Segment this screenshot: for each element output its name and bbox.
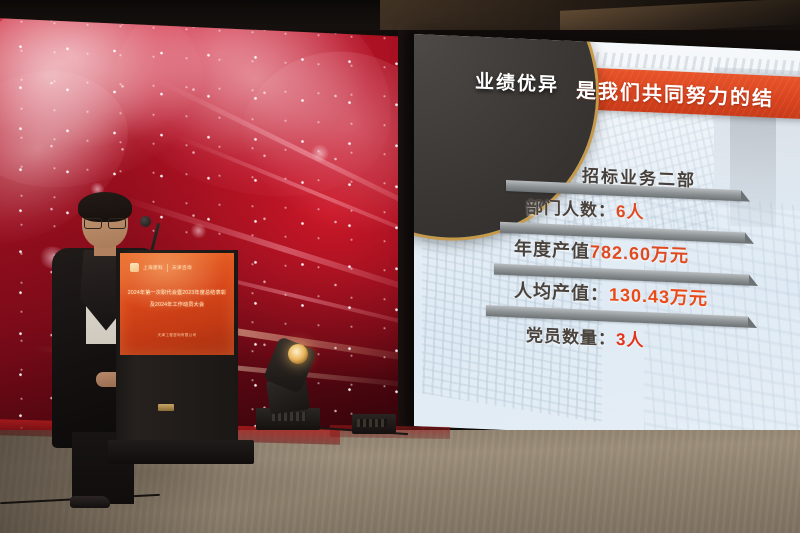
metric-label: 部门人数： bbox=[526, 198, 616, 221]
slide-metric-row: 部门人数：6人 bbox=[526, 193, 644, 223]
logo-divider bbox=[167, 264, 168, 272]
podium-banner-line3: 天津工程咨询有限公司 bbox=[123, 333, 231, 338]
stage-equipment bbox=[352, 414, 396, 434]
podium-nameplate bbox=[158, 404, 174, 411]
podium-front-panel: 上海建科 天津咨询 2024年第一次职代会暨2023年度总结表彰 及2024年工… bbox=[120, 253, 234, 355]
bokeh-dot bbox=[190, 223, 207, 239]
metric-value: 130.43万元 bbox=[609, 285, 708, 309]
presentation-slide: 是我们共同努力的结 业绩优异 招标业务二部 部门人数：6人 年度产值782.60… bbox=[414, 34, 800, 443]
microphone-icon bbox=[140, 216, 151, 227]
building-tower bbox=[730, 106, 776, 228]
metric-label: 年度产值 bbox=[514, 238, 590, 261]
glasses-icon bbox=[84, 218, 126, 227]
metric-value: 3人 bbox=[616, 330, 644, 350]
shoe bbox=[70, 496, 110, 508]
stage-light-lens-icon bbox=[288, 344, 308, 364]
metric-value: 782.60万元 bbox=[590, 242, 689, 266]
podium-logo-text-secondary: 天津咨询 bbox=[172, 265, 192, 271]
podium-banner-line1: 2024年第一次职代会暨2023年度总结表彰 bbox=[123, 289, 231, 296]
conference-photo-scene: 是我们共同努力的结 业绩优异 招标业务二部 部门人数：6人 年度产值782.60… bbox=[0, 0, 800, 533]
podium-logo-text: 上海建科 bbox=[143, 265, 163, 271]
podium-banner-line2: 及2024年工作动员大会 bbox=[123, 301, 231, 308]
metric-value: 6人 bbox=[616, 202, 644, 222]
podium-logo: 上海建科 天津咨询 bbox=[130, 262, 224, 273]
slide-metric-row: 党员数量：3人 bbox=[526, 321, 644, 351]
bokeh-dot bbox=[310, 144, 330, 162]
logo-mark-icon bbox=[130, 263, 139, 272]
metric-label: 党员数量： bbox=[526, 326, 616, 349]
podium-base bbox=[108, 440, 254, 464]
metric-label: 人均产值： bbox=[514, 280, 609, 304]
